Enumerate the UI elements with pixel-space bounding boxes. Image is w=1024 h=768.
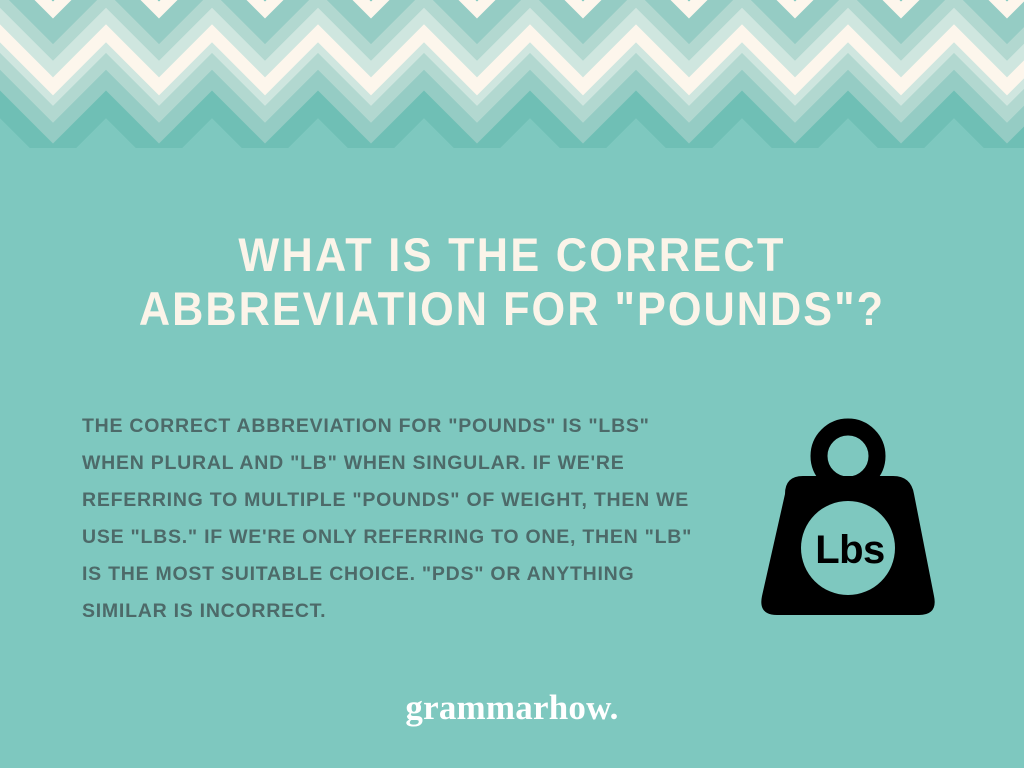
page-title-line-2: ABBREVIATION FOR "POUNDS"? (41, 282, 983, 336)
chevron-pattern-svg (0, 0, 1024, 148)
page-title-line-1: WHAT IS THE CORRECT (41, 228, 983, 282)
poster-canvas: WHAT IS THE CORRECT ABBREVIATION FOR "PO… (0, 0, 1024, 768)
chevron-pattern-band (0, 0, 1024, 148)
weight-icon-svg (752, 418, 948, 623)
weight-lbs-icon: Lbs (752, 418, 948, 623)
brand-logo: grammarhow. (0, 688, 1024, 728)
page-title: WHAT IS THE CORRECT ABBREVIATION FOR "PO… (0, 228, 1024, 336)
answer-paragraph: THE CORRECT ABBREVIATION FOR "POUNDS" IS… (82, 408, 712, 630)
